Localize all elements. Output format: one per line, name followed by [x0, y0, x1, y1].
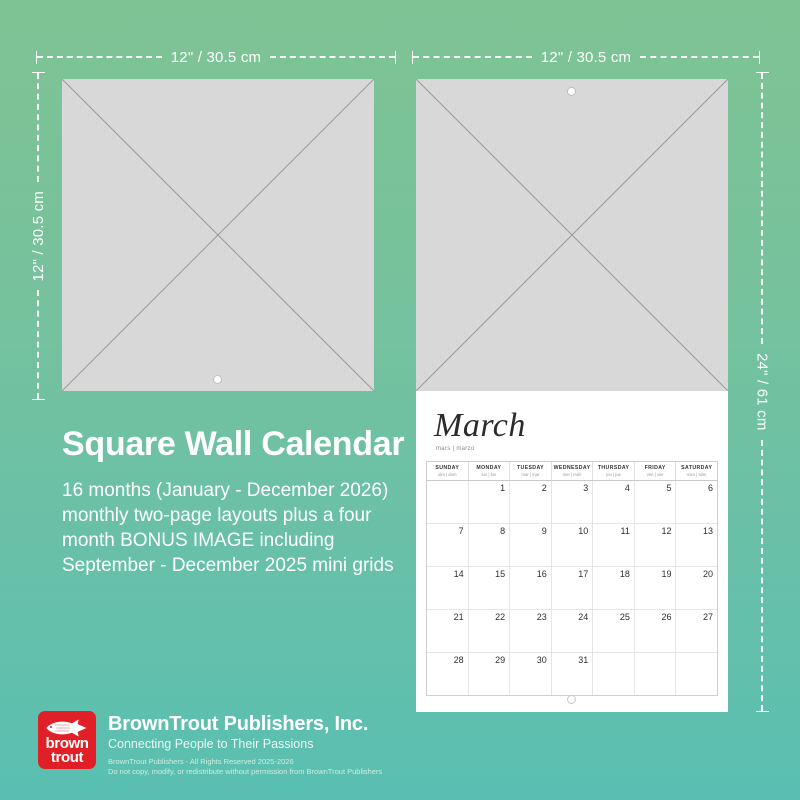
- calendar-day-cell[interactable]: [635, 653, 677, 695]
- day-number: 31: [578, 655, 588, 665]
- day-number: 14: [454, 569, 464, 579]
- day-number: 18: [620, 569, 630, 579]
- right-image-panel: [416, 79, 728, 391]
- calendar-day-cell[interactable]: 20: [676, 567, 717, 609]
- day-header-saturday: SATURDAY sam | sám: [676, 462, 717, 480]
- calendar-day-cell[interactable]: 10: [552, 524, 594, 566]
- calendar-day-cell[interactable]: [676, 653, 717, 695]
- dimension-dash-bottom: [37, 290, 39, 399]
- day-header-name: THURSDAY: [593, 465, 634, 471]
- dimension-dash-top: [761, 73, 763, 344]
- day-number: 21: [454, 612, 464, 622]
- footer-text-block: BrownTrout Publishers, Inc. Connecting P…: [108, 711, 382, 776]
- calendar-week-row: 14 15 16 17 18 19 20: [427, 567, 717, 610]
- day-header-sunday: SUNDAY dim | dom: [427, 462, 469, 480]
- day-number: 6: [708, 483, 713, 493]
- day-number: 28: [454, 655, 464, 665]
- calendar-day-cell[interactable]: 5: [635, 481, 677, 523]
- day-number: 8: [500, 526, 505, 536]
- day-number: 2: [542, 483, 547, 493]
- product-description: 16 months (January - December 2026) mont…: [62, 478, 412, 578]
- dimension-left-height-label: 12" / 30.5 cm: [30, 182, 47, 290]
- day-number: 15: [495, 569, 505, 579]
- calendar-day-cell[interactable]: 14: [427, 567, 469, 609]
- dimension-cap-bottom: [32, 399, 45, 400]
- company-tagline: Connecting People to Their Passions: [108, 737, 382, 751]
- day-header-alt: lun | lun: [469, 472, 510, 477]
- calendar-grid: SUNDAY dim | dom MONDAY lun | lun TUESDA…: [426, 461, 718, 696]
- calendar-day-cell[interactable]: 13: [676, 524, 717, 566]
- binding-hole: [213, 375, 222, 384]
- calendar-week-row: 21 22 23 24 25 26 27: [427, 610, 717, 653]
- day-header-name: SUNDAY: [427, 465, 468, 471]
- calendar-day-cell[interactable]: 17: [552, 567, 594, 609]
- legal-line-2: Do not copy, modify, or redistribute wit…: [108, 767, 382, 777]
- day-number: 5: [666, 483, 671, 493]
- calendar-day-cell[interactable]: 9: [510, 524, 552, 566]
- calendar-day-cell[interactable]: 22: [469, 610, 511, 652]
- dimension-dash-right: [640, 56, 759, 58]
- left-image-panel: [62, 79, 374, 391]
- day-number: 25: [620, 612, 630, 622]
- calendar-day-cell[interactable]: 24: [552, 610, 594, 652]
- day-number: 4: [625, 483, 630, 493]
- calendar-day-cell[interactable]: 11: [593, 524, 635, 566]
- day-number: 29: [495, 655, 505, 665]
- day-number: 7: [459, 526, 464, 536]
- day-header-alt: jeu | jue: [593, 472, 634, 477]
- calendar-day-cell[interactable]: 25: [593, 610, 635, 652]
- calendar-page: March mars | marzo SUNDAY dim | dom MOND…: [416, 391, 728, 712]
- day-header-tuesday: TUESDAY mar | mar: [510, 462, 552, 480]
- calendar-day-cell[interactable]: 7: [427, 524, 469, 566]
- day-number: 9: [542, 526, 547, 536]
- legal-notice: BrownTrout Publishers - All Rights Reser…: [108, 757, 382, 776]
- dimension-cap-end: [395, 51, 396, 64]
- day-number: 12: [661, 526, 671, 536]
- day-header-name: MONDAY: [469, 465, 510, 471]
- day-number: 16: [537, 569, 547, 579]
- day-header-thursday: THURSDAY jeu | jue: [593, 462, 635, 480]
- dimension-right-height-label: 24" / 61 cm: [754, 344, 771, 440]
- binding-hole: [567, 695, 576, 704]
- binding-hole: [567, 87, 576, 96]
- day-number: 20: [703, 569, 713, 579]
- day-number: 3: [583, 483, 588, 493]
- dimension-right-total-height: 24" / 61 cm: [755, 72, 769, 712]
- day-header-alt: dim | dom: [427, 472, 468, 477]
- day-header-monday: MONDAY lun | lun: [469, 462, 511, 480]
- browntrout-logo: brown trout: [38, 711, 96, 769]
- calendar-week-row: 1 2 3 4 5 6: [427, 481, 717, 524]
- day-number: 11: [621, 526, 630, 536]
- calendar-week-row: 28 29 30 31: [427, 653, 717, 696]
- dimension-left-panel-width: 12" / 30.5 cm: [36, 50, 396, 64]
- day-number: 22: [495, 612, 505, 622]
- calendar-month-title: March: [434, 409, 728, 443]
- calendar-day-cell[interactable]: 26: [635, 610, 677, 652]
- calendar-day-cell[interactable]: [593, 653, 635, 695]
- calendar-day-cell[interactable]: [427, 481, 469, 523]
- day-header-alt: mer | miér: [552, 472, 593, 477]
- dimension-cap-end: [759, 51, 760, 64]
- calendar-day-cell[interactable]: 27: [676, 610, 717, 652]
- calendar-day-cell[interactable]: 15: [469, 567, 511, 609]
- day-header-alt: mar | mar: [510, 472, 551, 477]
- placeholder-cross-icon: [62, 79, 374, 391]
- dimension-dash-bottom: [761, 440, 763, 711]
- calendar-day-cell[interactable]: 23: [510, 610, 552, 652]
- day-header-name: WEDNESDAY: [552, 465, 593, 471]
- dimension-dash-left: [413, 56, 532, 58]
- calendar-day-cell[interactable]: 3: [552, 481, 594, 523]
- page-title: Square Wall Calendar: [62, 425, 404, 464]
- dimension-right-panel-width: 12" / 30.5 cm: [412, 50, 760, 64]
- calendar-day-cell[interactable]: 31: [552, 653, 594, 695]
- day-number: 17: [578, 569, 588, 579]
- day-number: 10: [578, 526, 588, 536]
- logo-word-trout: trout: [38, 751, 96, 765]
- dimension-left-panel-height: 12" / 30.5 cm: [31, 72, 45, 400]
- calendar-day-cell[interactable]: 21: [427, 610, 469, 652]
- dimension-dash-top: [37, 73, 39, 182]
- day-header-name: TUESDAY: [510, 465, 551, 471]
- day-number: 27: [703, 612, 713, 622]
- calendar-day-cell[interactable]: 2: [510, 481, 552, 523]
- day-header-name: SATURDAY: [676, 465, 717, 471]
- day-number: 24: [578, 612, 588, 622]
- day-header-name: FRIDAY: [635, 465, 676, 471]
- calendar-day-cell[interactable]: 28: [427, 653, 469, 695]
- calendar-day-cell[interactable]: 30: [510, 653, 552, 695]
- day-number: 1: [500, 483, 505, 493]
- calendar-day-cell[interactable]: 18: [593, 567, 635, 609]
- day-number: 23: [537, 612, 547, 622]
- day-header-wednesday: WEDNESDAY mer | miér: [552, 462, 594, 480]
- dimension-dash-left: [37, 56, 162, 58]
- calendar-month-subtitle: mars | marzo: [436, 446, 728, 452]
- calendar-day-cell[interactable]: 1: [469, 481, 511, 523]
- calendar-day-header-row: SUNDAY dim | dom MONDAY lun | lun TUESDA…: [427, 462, 717, 481]
- placeholder-cross-icon: [416, 79, 728, 391]
- day-number: 13: [703, 526, 713, 536]
- company-name: BrownTrout Publishers, Inc.: [108, 713, 382, 736]
- day-number: 30: [537, 655, 547, 665]
- calendar-day-cell[interactable]: 6: [676, 481, 717, 523]
- logo-text: brown trout: [38, 737, 96, 765]
- dimension-dash-right: [270, 56, 395, 58]
- dimension-left-width-label: 12" / 30.5 cm: [162, 49, 270, 66]
- dimension-right-width-label: 12" / 30.5 cm: [532, 49, 640, 66]
- calendar-day-cell[interactable]: 12: [635, 524, 677, 566]
- dimension-cap-bottom: [756, 711, 769, 712]
- day-header-friday: FRIDAY ven | vier: [635, 462, 677, 480]
- calendar-day-cell[interactable]: 8: [469, 524, 511, 566]
- calendar-day-cell[interactable]: 29: [469, 653, 511, 695]
- day-header-alt: ven | vier: [635, 472, 676, 477]
- footer: brown trout BrownTrout Publishers, Inc. …: [38, 711, 382, 776]
- calendar-day-cell[interactable]: 4: [593, 481, 635, 523]
- calendar-day-cell[interactable]: 19: [635, 567, 677, 609]
- calendar-day-cell[interactable]: 16: [510, 567, 552, 609]
- calendar-week-row: 7 8 9 10 11 12 13: [427, 524, 717, 567]
- legal-line-1: BrownTrout Publishers - All Rights Reser…: [108, 757, 382, 767]
- day-number: 19: [661, 569, 671, 579]
- day-number: 26: [661, 612, 671, 622]
- day-header-alt: sam | sám: [676, 472, 717, 477]
